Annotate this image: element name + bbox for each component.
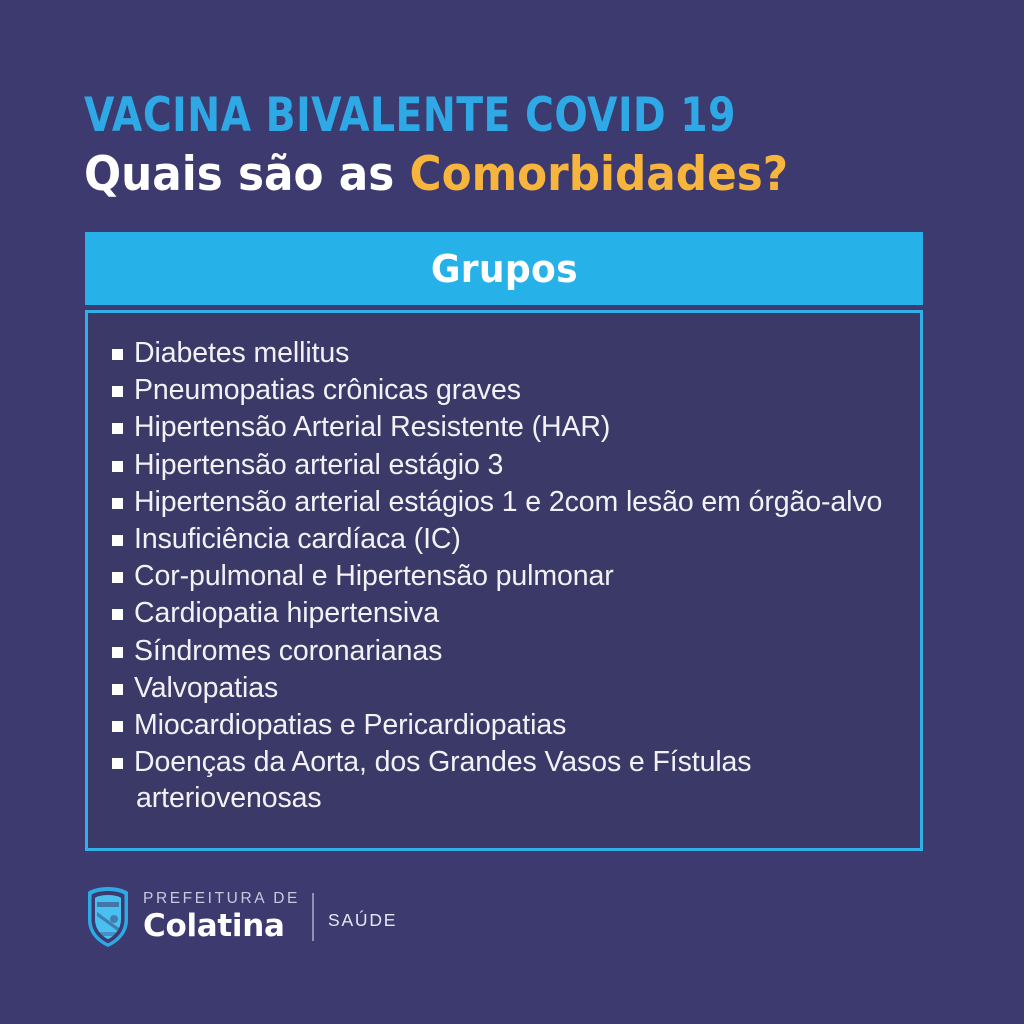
square-bullet-icon (112, 498, 123, 509)
brand-city-label: Colatina (143, 910, 300, 943)
brand-logo: PREFEITURA DE Colatina SAÚDE (84, 886, 397, 948)
brand-department-label: SAÚDE (328, 910, 397, 931)
list-item: Valvopatias (112, 670, 896, 706)
list-item-label: Doenças da Aorta, dos Grandes Vasos e Fí… (134, 746, 751, 814)
list-item: Cor-pulmonal e Hipertensão pulmonar (112, 558, 896, 594)
page-title-primary: VACINA BIVALENTE COVID 19 (84, 92, 893, 140)
list-item-label: Hipertensão arterial estágio 3 (134, 449, 503, 481)
square-bullet-icon (112, 758, 123, 769)
square-bullet-icon (112, 684, 123, 695)
list-item: Hipertensão arterial estágios 1 e 2com l… (112, 484, 896, 520)
groups-table: Grupos Diabetes mellitusPneumopatias crô… (85, 232, 923, 851)
list-item: Miocardiopatias e Pericardiopatias (112, 707, 896, 743)
list-item-label: Cardiopatia hipertensiva (134, 597, 439, 629)
square-bullet-icon (112, 721, 123, 732)
square-bullet-icon (112, 609, 123, 620)
brand-divider (312, 893, 314, 941)
square-bullet-icon (112, 349, 123, 360)
groups-table-body: Diabetes mellitusPneumopatias crônicas g… (85, 310, 923, 851)
list-item: Insuficiência cardíaca (IC) (112, 521, 896, 557)
colatina-coat-of-arms-icon (84, 886, 132, 948)
page-title-secondary: Quais são as Comorbidades? (84, 151, 893, 199)
square-bullet-icon (112, 572, 123, 583)
list-item: Síndromes coronarianas (112, 633, 896, 669)
list-item: Doenças da Aorta, dos Grandes Vasos e Fí… (112, 744, 896, 816)
list-item: Hipertensão Arterial Resistente (HAR) (112, 409, 896, 445)
list-item: Hipertensão arterial estágio 3 (112, 447, 896, 483)
square-bullet-icon (112, 535, 123, 546)
page-title-secondary-prefix: Quais são as (84, 147, 409, 202)
list-item: Diabetes mellitus (112, 335, 896, 371)
list-item-label: Síndromes coronarianas (134, 635, 442, 667)
list-item: Pneumopatias crônicas graves (112, 372, 896, 408)
square-bullet-icon (112, 461, 123, 472)
list-item-label: Insuficiência cardíaca (IC) (134, 523, 461, 555)
brand-prefeitura-label: PREFEITURA DE (143, 891, 300, 907)
list-item-label: Valvopatias (134, 672, 278, 704)
list-item: Cardiopatia hipertensiva (112, 595, 896, 631)
poster-canvas: VACINA BIVALENTE COVID 19 Quais são as C… (0, 0, 1024, 1024)
square-bullet-icon (112, 386, 123, 397)
square-bullet-icon (112, 423, 123, 434)
groups-table-header: Grupos (85, 232, 923, 305)
list-item-label: Miocardiopatias e Pericardiopatias (134, 709, 566, 741)
square-bullet-icon (112, 647, 123, 658)
list-item-label: Diabetes mellitus (134, 337, 349, 369)
list-item-label: Cor-pulmonal e Hipertensão pulmonar (134, 560, 614, 592)
list-item-label: Hipertensão arterial estágios 1 e 2com l… (134, 486, 882, 518)
comorbidity-list: Diabetes mellitusPneumopatias crônicas g… (112, 335, 896, 816)
page-title-secondary-accent: Comorbidades? (409, 147, 788, 202)
groups-table-header-label: Grupos (431, 247, 578, 291)
list-item-label: Pneumopatias crônicas graves (134, 374, 521, 406)
brand-logo-text: PREFEITURA DE Colatina (143, 891, 300, 942)
list-item-label: Hipertensão Arterial Resistente (HAR) (134, 411, 610, 443)
poster-title-block: VACINA BIVALENTE COVID 19 Quais são as C… (84, 92, 954, 199)
